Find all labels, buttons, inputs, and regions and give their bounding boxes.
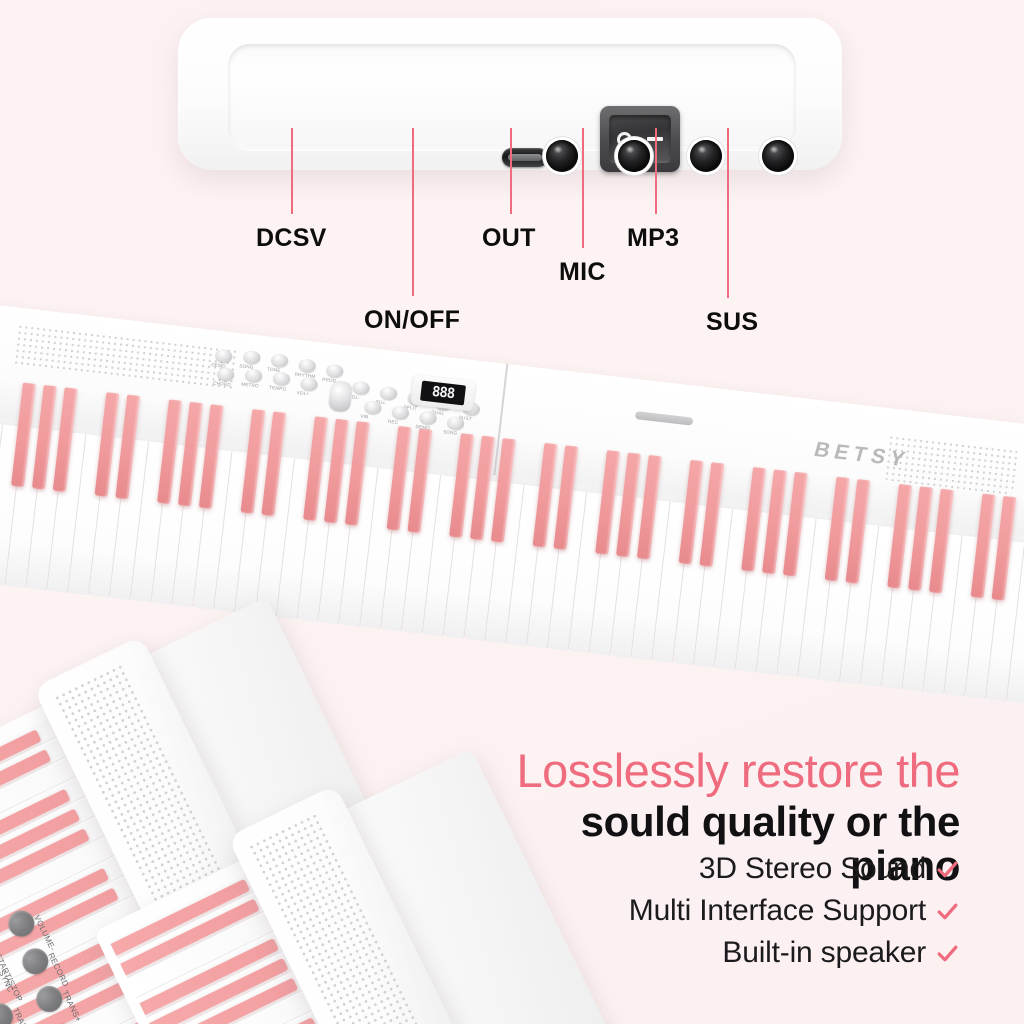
- folded-control-label: PLAY START/STOP: [0, 931, 24, 1003]
- callout-label-mp3: MP3: [627, 224, 679, 253]
- leader-line-mic: [582, 128, 584, 248]
- speaker-grille-left-icon: [13, 323, 238, 390]
- out-jack-icon[interactable]: [546, 140, 578, 172]
- feature-label: Multi Interface Support: [629, 894, 926, 928]
- check-icon: [935, 941, 960, 966]
- control-button-label: REC: [388, 419, 399, 425]
- control-button-label: TEMPO: [269, 385, 287, 392]
- feature-item: Built-in speaker: [480, 936, 960, 970]
- leader-line-mp3: [655, 128, 657, 214]
- product-marketing-image: DCSV ON/OFF OUT MIC MP3 SUS BETSY DEMOSO…: [0, 0, 1024, 1024]
- mic-jack-icon[interactable]: [618, 140, 650, 172]
- sus-jack-icon[interactable]: [762, 140, 794, 172]
- usb-c-port-icon[interactable]: [502, 148, 548, 167]
- folded-control-label: TRANS+: [60, 989, 83, 1023]
- feature-item: 3D Stereo Sound: [480, 852, 960, 886]
- control-button-label: VOL+: [296, 390, 309, 396]
- headline-primary: Losslessly restore the: [490, 746, 960, 795]
- control-button-label: SONG: [443, 429, 458, 436]
- folded-control-button[interactable]: [4, 906, 39, 941]
- mode-knob[interactable]: [328, 380, 353, 412]
- leader-line-out: [510, 128, 512, 214]
- control-button[interactable]: [217, 367, 235, 382]
- control-button[interactable]: [379, 386, 397, 401]
- leader-line-dcsv: [291, 128, 293, 214]
- callout-label-onoff: ON/OFF: [364, 306, 460, 335]
- feature-label: 3D Stereo Sound: [699, 852, 926, 886]
- control-button[interactable]: [326, 363, 344, 378]
- callout-label-out: OUT: [482, 224, 536, 253]
- callout-label-mic: MIC: [559, 258, 606, 287]
- leader-line-onoff: [412, 128, 414, 296]
- control-button-label: VIB: [360, 413, 369, 419]
- control-button[interactable]: [243, 350, 261, 365]
- callout-label-dcsv: DCSV: [256, 224, 327, 253]
- check-icon: [935, 899, 960, 924]
- leader-line-sus: [727, 128, 729, 298]
- folded-control-label: RECORD: [46, 951, 70, 988]
- control-button[interactable]: [272, 371, 290, 386]
- control-button[interactable]: [352, 380, 370, 395]
- hinge-marker: [635, 411, 694, 426]
- control-button[interactable]: [245, 368, 263, 383]
- control-button-label: METRO: [241, 382, 259, 389]
- folded-control-label: TRANS-: [11, 1007, 33, 1024]
- control-button[interactable]: [215, 348, 233, 363]
- control-button[interactable]: [298, 358, 316, 373]
- feature-label: Built-in speaker: [722, 936, 926, 970]
- control-button[interactable]: [271, 353, 289, 368]
- port-panel-recess: [228, 44, 796, 150]
- feature-list: 3D Stereo SoundMulti Interface SupportBu…: [480, 852, 960, 978]
- control-button[interactable]: [300, 376, 318, 391]
- led-display-value: 888: [420, 381, 466, 406]
- callout-label-sus: SUS: [706, 308, 758, 337]
- check-icon: [935, 857, 960, 882]
- mp3-jack-icon[interactable]: [690, 140, 722, 172]
- folded-control-label: VOLUME-: [32, 914, 57, 953]
- feature-item: Multi Interface Support: [480, 894, 960, 928]
- control-button-label: CHORD: [213, 380, 231, 387]
